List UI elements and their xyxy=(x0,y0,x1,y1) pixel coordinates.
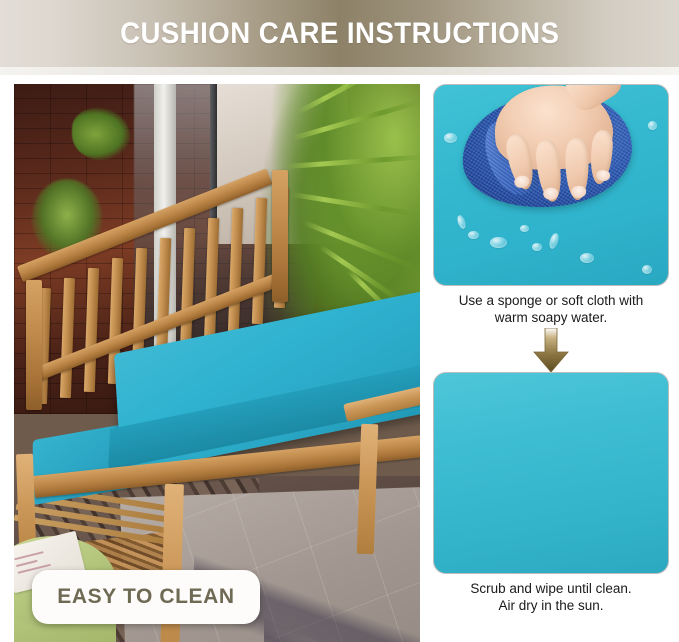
step-1-caption-line-2: warm soapy water. xyxy=(433,309,669,326)
hand xyxy=(482,84,641,216)
header-banner: CUSHION CARE INSTRUCTIONS xyxy=(0,0,679,67)
header-bottom-fade xyxy=(0,67,679,75)
arrow-container xyxy=(433,328,669,372)
bench-post-right xyxy=(272,170,288,302)
fingernail-ring xyxy=(571,186,586,198)
instructions-column: Use a sponge or soft cloth with warm soa… xyxy=(433,84,669,642)
easy-to-clean-label: EASY TO CLEAN xyxy=(57,585,234,609)
step-2-caption-line-2: Air dry in the sun. xyxy=(433,597,669,614)
step-2-caption-line-1: Scrub and wipe until clean. xyxy=(433,580,669,597)
step-1-caption: Use a sponge or soft cloth with warm soa… xyxy=(433,292,669,326)
step-2-caption: Scrub and wipe until clean. Air dry in t… xyxy=(433,580,669,614)
step-1-caption-line-1: Use a sponge or soft cloth with xyxy=(433,292,669,309)
ground-shadow-2 xyxy=(264,554,420,642)
fingernail-pinky xyxy=(596,170,611,182)
bench-photo xyxy=(14,84,420,642)
bench-post-left xyxy=(26,280,42,410)
arrow-down-icon xyxy=(531,328,571,372)
page-title: CUSHION CARE INSTRUCTIONS xyxy=(120,17,559,51)
easy-to-clean-badge: EASY TO CLEAN xyxy=(32,570,260,624)
step-2-image xyxy=(433,372,669,574)
step-1-image xyxy=(433,84,669,286)
